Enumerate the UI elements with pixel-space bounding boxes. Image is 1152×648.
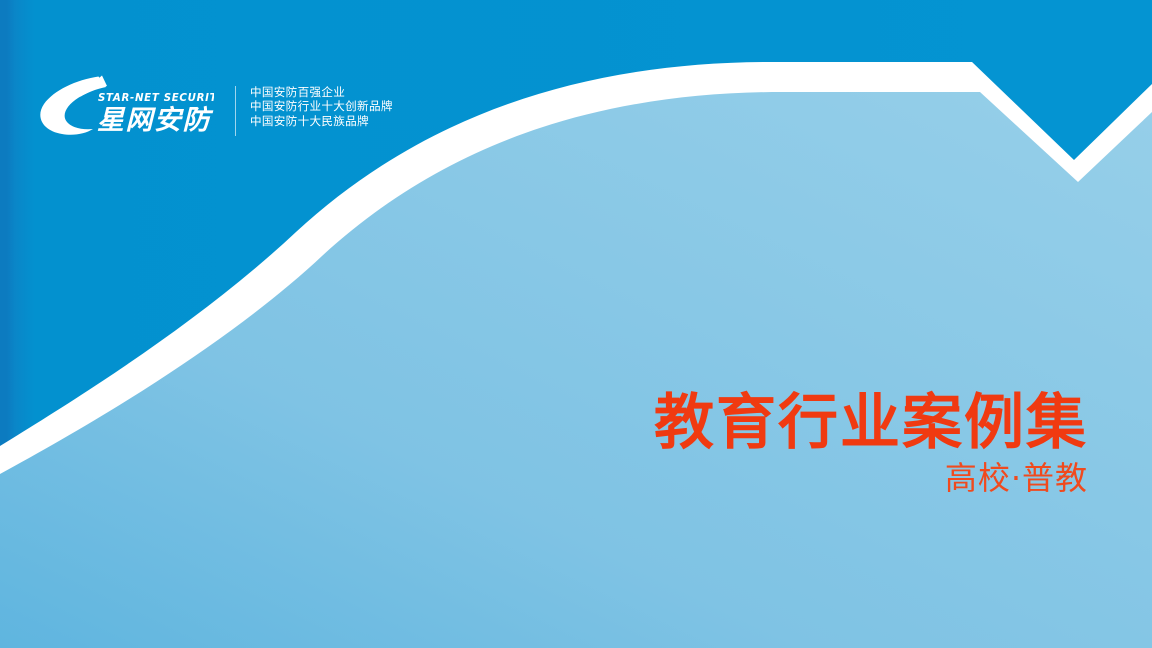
brand-divider [235, 86, 236, 136]
title-block: 教育行业案例集 高校·普教 [654, 392, 1088, 496]
slide-canvas: STAR-NET SECURITY 星网安防 中国安防百强企业 中国安防行业十大… [0, 0, 1152, 648]
logo-cn-text: 星网安防 [97, 105, 213, 136]
brand-lockup: STAR-NET SECURITY 星网安防 中国安防百强企业 中国安防行业十大… [36, 74, 393, 140]
brand-taglines: 中国安防百强企业 中国安防行业十大创新品牌 中国安防十大民族品牌 [250, 85, 393, 128]
logo-latin-text: STAR-NET SECURITY [98, 93, 214, 104]
logo-wordmark: STAR-NET SECURITY 星网安防 [36, 74, 214, 140]
page-subtitle: 高校·普教 [654, 460, 1088, 496]
page-title: 教育行业案例集 [654, 392, 1088, 454]
company-logo: STAR-NET SECURITY 星网安防 [36, 74, 214, 140]
tagline-1: 中国安防百强企业 [250, 85, 393, 99]
tagline-3: 中国安防十大民族品牌 [250, 114, 393, 128]
tagline-2: 中国安防行业十大创新品牌 [250, 99, 393, 113]
